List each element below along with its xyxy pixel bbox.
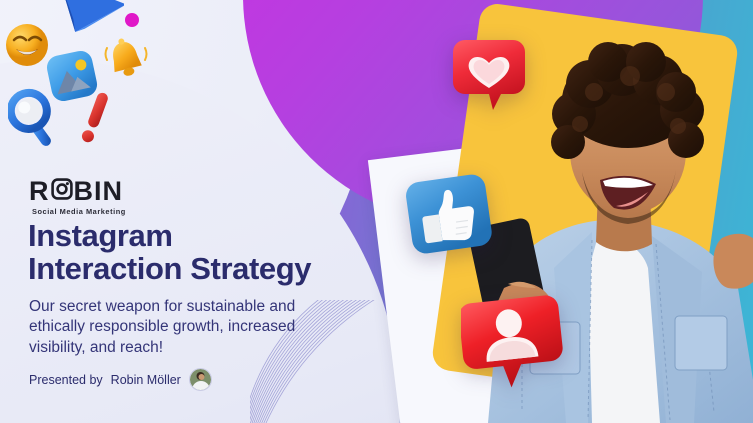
page-title: Instagram Interaction Strategy [28,219,408,285]
subtitle-line-2: ethically responsible growth, increased [29,317,369,337]
title-line-1: Instagram [28,219,408,252]
presenter-name: Robin Möller [111,373,181,387]
avatar [189,368,212,391]
thumbs-up-icon [403,173,495,257]
presentation-slide: R BIN Social Media Marketing Instagram I… [0,0,753,423]
heart-like-bubble-icon [453,36,525,126]
logo-tagline: Social Media Marketing [32,207,126,216]
presenter-credit: Presented by Robin Möller [29,368,212,391]
instagram-camera-icon [51,178,73,205]
subtitle: Our secret weapon for sustainable and et… [29,297,369,358]
logo-letter-r: R [29,178,50,205]
logo-letters-bin: BIN [74,178,124,205]
magnifying-glass-icon [8,88,64,150]
logo-wordmark: R BIN [29,178,126,205]
presenter-prefix: Presented by [29,373,103,387]
bell-icon [103,36,149,84]
brand-logo[interactable]: R BIN Social Media Marketing [29,178,126,216]
title-line-2: Interaction Strategy [28,252,408,285]
magenta-dot [124,12,140,28]
new-follower-bubble-icon [461,293,565,395]
exclamation-mark-icon [78,90,114,150]
subtitle-line-3: visibility, and reach! [29,338,369,358]
subtitle-line-1: Our secret weapon for sustainable and [29,297,369,317]
